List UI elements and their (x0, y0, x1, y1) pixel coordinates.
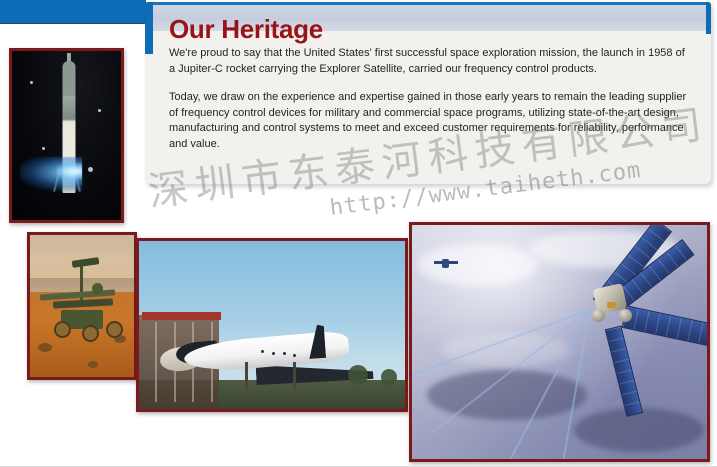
satellite-secondary-wing-right (449, 261, 458, 264)
heritage-paragraph-1: We're proud to say that the United State… (169, 46, 689, 77)
panel-left-accent (145, 2, 153, 54)
rover-wheel (82, 325, 99, 342)
star-dot (98, 109, 101, 112)
star-dot (88, 167, 93, 172)
satellite-secondary-wing-left (434, 261, 443, 264)
rover-wheel (54, 321, 71, 338)
photo-space-shuttle (136, 238, 408, 412)
shuttle-hatch-marking (272, 352, 275, 355)
satellite-secondary-body (442, 259, 449, 268)
star-dot (30, 81, 33, 84)
photo-mars-rover (27, 232, 137, 380)
terrain-shadow (427, 370, 587, 420)
photo-rocket-launch (9, 48, 124, 223)
star-dot (42, 147, 45, 150)
shuttle-hatch-marking (293, 354, 296, 357)
platform-support (293, 362, 296, 389)
rover-wheel (106, 321, 123, 338)
gantry-truss-bar (155, 322, 157, 403)
heritage-paragraph-2: Today, we draw on the experience and exp… (169, 90, 689, 152)
platform-support (245, 362, 248, 389)
page-title: Our Heritage (169, 12, 689, 46)
panel-top-accent (145, 2, 711, 5)
panel-body: Our Heritage We're proud to say that the… (145, 2, 711, 184)
satellite-secondary-distant (436, 253, 456, 273)
content-panel: Our Heritage We're proud to say that the… (145, 2, 711, 184)
shuttle-hatch-marking (283, 352, 286, 355)
mars-rock (38, 343, 52, 352)
satellite-antenna-dish-right (619, 309, 632, 322)
top-blue-band (0, 0, 146, 24)
rocket-exhaust-core (56, 163, 82, 179)
terrain-shadow (574, 408, 704, 452)
page-root: Our Heritage We're proud to say that the… (0, 0, 717, 467)
panel-right-accent (706, 2, 711, 34)
satellite-gold-foil-module (607, 302, 616, 308)
gantry-red-roof (142, 312, 222, 320)
photo-satellite-orbit (409, 222, 710, 462)
mars-rock (88, 361, 98, 368)
